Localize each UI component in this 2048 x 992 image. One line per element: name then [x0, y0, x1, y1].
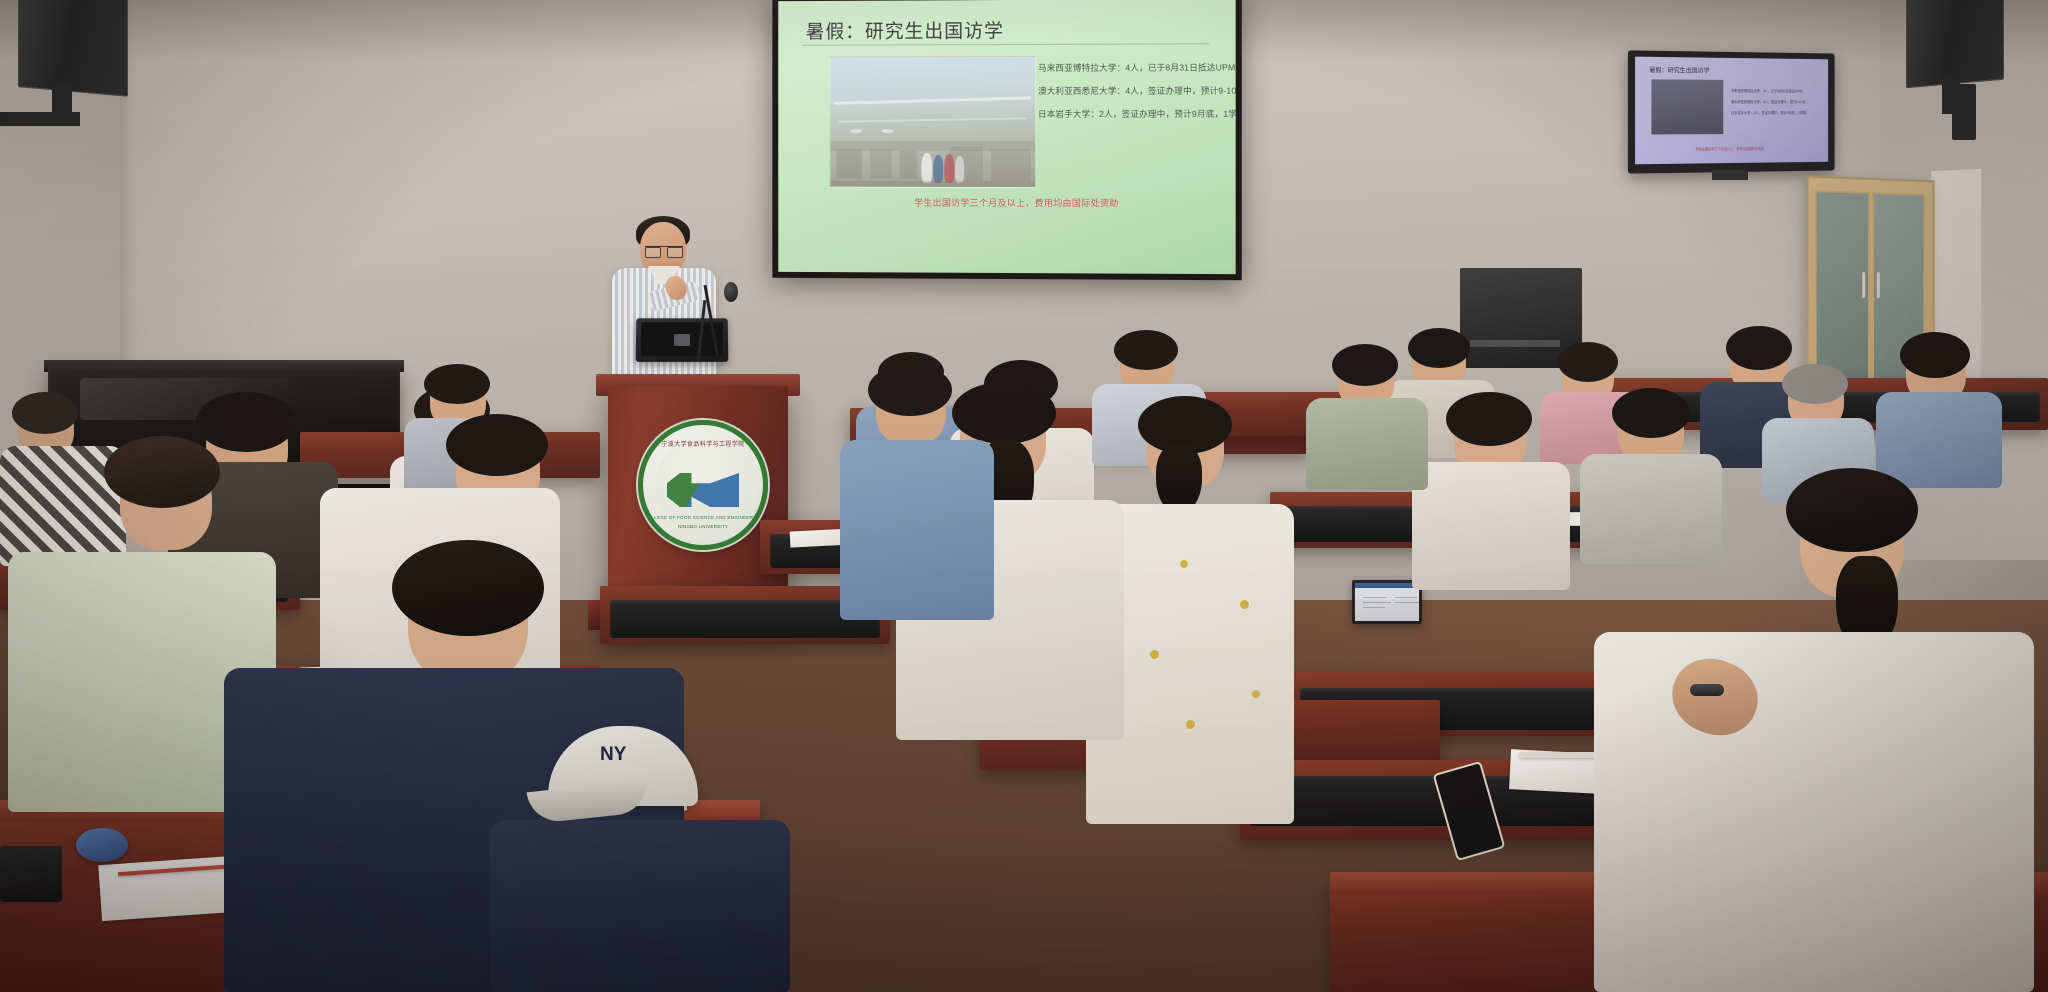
attendee-laptop-screen-2[interactable] [1352, 580, 1422, 624]
av-rack-slot [1470, 340, 1560, 347]
blouse-floral-dot [1240, 600, 1249, 609]
projection-screen-frame: 暑假：研究生出国访学 马来西亚博特拉大学：4人，已于8 [772, 0, 1241, 280]
wall-speaker-left [18, 0, 128, 97]
wristwatch [1690, 684, 1724, 696]
emblem-english-line1: COLLEGE OF FOOD SCIENCE AND ENGINEERING [643, 515, 763, 520]
emblem-english-line2: NINGBO UNIVERSITY [643, 524, 763, 529]
monitor-bullet: 日本岩手大学：2人，签证办理中，预计9月底，1学期 [1731, 110, 1806, 115]
monitor-bullet: 澳大利亚西悉尼大学：4人，签证办理中，预计9-10月; [1731, 99, 1806, 104]
speaker-bracket-right [1952, 84, 1976, 140]
emblem-chinese-name: 宁波大学食品科学与工程学院 [643, 439, 763, 448]
college-emblem: 宁波大学食品科学与工程学院 COLLEGE OF FOOD SCIENCE AN… [638, 420, 768, 550]
slide-bullet-list: 马来西亚博特拉大学：4人，已于8月31日抵达UPM; 澳大利亚西悉尼大学：4人，… [1038, 61, 1236, 131]
blouse-floral-dot [1186, 720, 1195, 729]
lecture-hall-scene: 暑假：研究生出国访学 马来西亚博特拉大学：4人，已于8 [0, 0, 2048, 992]
slide-footnote: 学生出国访学三个月及以上，费用均由国际处资助 [837, 196, 1197, 210]
cabinet-door-left[interactable] [1815, 190, 1870, 384]
blouse-floral-dot [1180, 560, 1188, 568]
desk-object-blue [76, 828, 128, 862]
cap-logo-text: NY [600, 744, 626, 766]
monitor-bullet: 马来西亚博特拉大学：4人，已于8月31日抵达UPM; [1731, 88, 1806, 93]
slide-title: 暑假：研究生出国访学 [806, 15, 1135, 43]
monitor-slide-title: 暑假：研究生出国访学 [1649, 65, 1709, 75]
microphone-icon [724, 282, 738, 302]
monitor-footnote: 学生出国访学三个月及以上，费用均由国际处资助 [1666, 145, 1793, 151]
monitor-bullet-list: 马来西亚博特拉大学：4人，已于8月31日抵达UPM; 澳大利亚西悉尼大学：4人，… [1731, 88, 1806, 121]
glasses-icon [645, 246, 683, 256]
monitor-wall-mount [1712, 170, 1748, 180]
desk-device-dark [0, 846, 62, 902]
projection-screen-surface: 暑假：研究生出国访学 马来西亚博特拉大学：4人，已于8 [778, 0, 1235, 274]
slide-bullet: 马来西亚博特拉大学：4人，已于8月31日抵达UPM; [1038, 61, 1236, 74]
laptop-logo [674, 334, 690, 346]
wall-monitor: 暑假：研究生出国访学 马来西亚博特拉大学：4人，已于8月31日抵达UPM; 澳大… [1628, 50, 1835, 173]
blouse-floral-dot [1150, 650, 1159, 659]
slide-title-divider [802, 43, 1209, 45]
slide-bullet: 澳大利亚西悉尼大学：4人，签证办理中，预计9-10月; [1038, 85, 1236, 97]
slide-photo-airport [829, 56, 1036, 188]
monitor-slide-photo [1651, 79, 1723, 134]
slide-bullet: 日本岩手大学：2人，签证办理中，预计9月底，1学期 [1038, 108, 1236, 120]
blouse-floral-dot [1252, 690, 1260, 698]
speaker-bracket-left [0, 112, 80, 126]
wall-speaker-right [1906, 0, 2004, 88]
wall-monitor-screen: 暑假：研究生出国访学 马来西亚博特拉大学：4人，已于8月31日抵达UPM; 澳大… [1635, 57, 1828, 165]
